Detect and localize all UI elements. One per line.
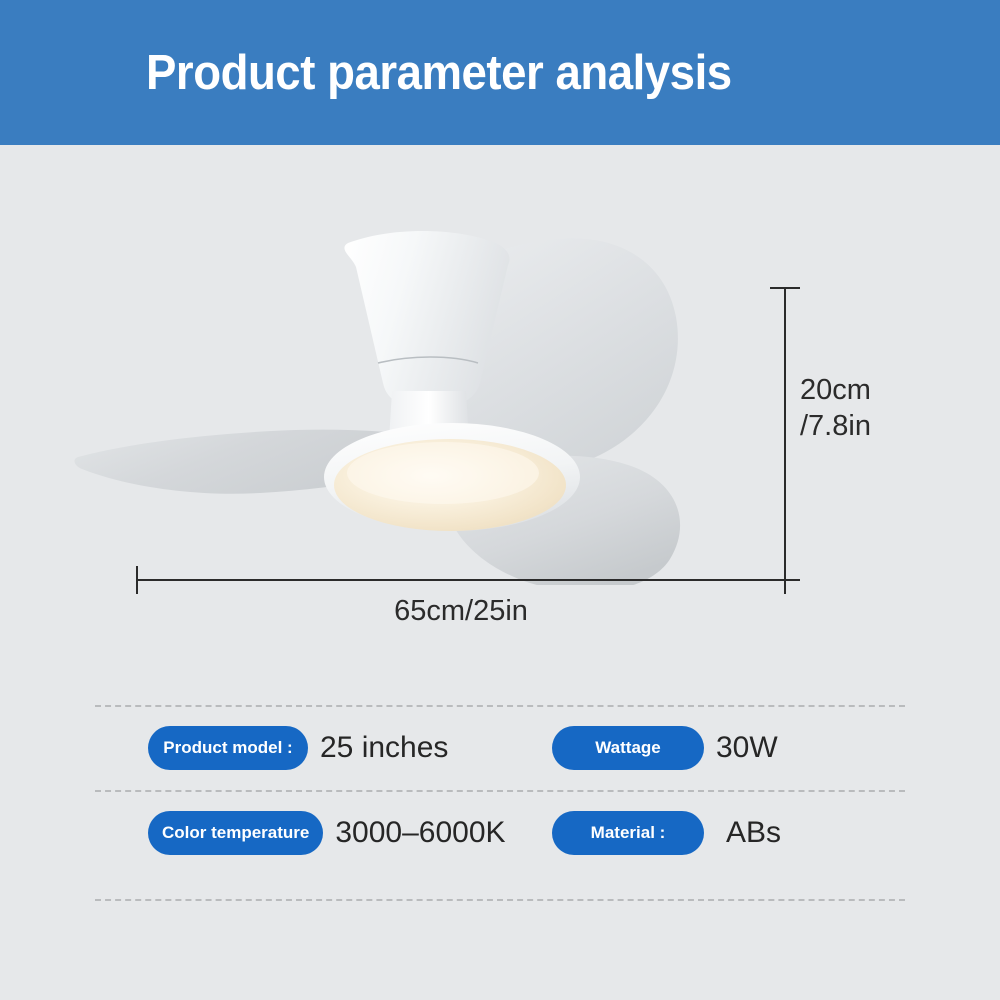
spec-value-color-temperature: 3000–6000K [335,816,505,850]
ceiling-fan-graphic [60,205,760,585]
page-title: Product parameter analysis [146,45,732,101]
spec-label-badge-product-model: Product model : [148,726,308,770]
spec-divider-bottom [95,899,905,901]
width-dimension-line [137,579,785,581]
spec-item-wattage: Wattage 30W [552,706,778,790]
ceiling-fan-image [60,205,760,585]
spec-value-material: ABs [726,816,781,850]
spec-label-badge-material: Material : [552,811,704,855]
spec-row: Color temperature 3000–6000K Material : … [0,791,1000,875]
spec-label-badge-wattage: Wattage [552,726,704,770]
height-dimension-line [784,288,786,580]
spec-value-product-model: 25 inches [320,731,448,765]
spec-item-color-temperature: Color temperature 3000–6000K [148,791,506,875]
spec-item-material: Material : ABs [552,791,781,875]
page-header-banner: Product parameter analysis [0,0,1000,145]
spec-label-badge-color-temperature: Color temperature [148,811,323,855]
width-dimension-label: 65cm/25in [137,595,785,628]
spec-table: Product model : 25 inches Wattage 30W Co… [0,700,1000,910]
spec-item-product-model: Product model : 25 inches [148,706,448,790]
height-dimension-label: 20cm /7.8in [800,372,871,444]
product-parameter-page: Product parameter analysis [0,0,1000,1000]
spec-row: Product model : 25 inches Wattage 30W [0,706,1000,790]
spec-value-wattage: 30W [716,731,778,765]
fan-light-highlight [347,442,539,504]
width-dimension-tick-right [784,566,786,594]
